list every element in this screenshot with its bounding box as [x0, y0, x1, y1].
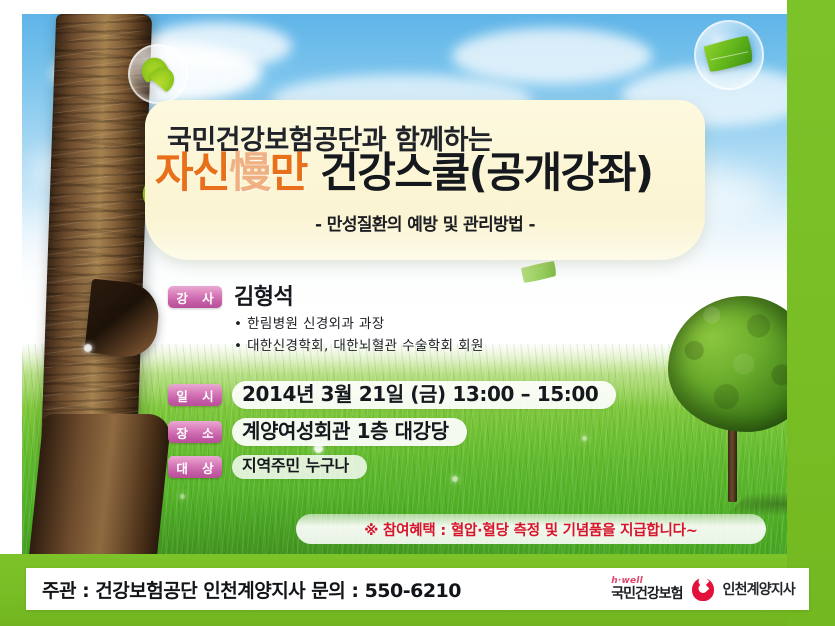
bubble-left [128, 44, 188, 104]
title-line-2: 자신慢만 건강스쿨(공개강좌) [155, 152, 653, 194]
branch-name: 인천계양지사 [723, 579, 795, 599]
datetime-value: 2014년 3월 21일 (금) 13:00 – 15:00 [242, 382, 598, 406]
leaf-icon [703, 34, 755, 74]
title-word-man: 만 [270, 148, 307, 197]
venue-pill: 계양여성회관 1층 대강당 [232, 418, 467, 446]
trunk-base [28, 414, 172, 559]
badge-audience: 대 상 [168, 456, 222, 478]
frame-top-white [0, 0, 835, 14]
title-word-health-school: 건강스쿨(공개강좌) [320, 148, 653, 197]
info-row-speaker: 강 사 김형석 한림병원 신경외과 과장 대한신경학회, 대한뇌혈관 수술학회 … [168, 286, 638, 357]
nhis-logo: h·well 국민건강보험 [611, 577, 682, 601]
nhis-wordmark: 국민건강보험 [611, 587, 682, 601]
badge-venue: 장 소 [168, 421, 222, 443]
info-row-audience: 대 상 지역주민 누구나 [168, 455, 638, 479]
speaker-name: 김형석 [234, 286, 484, 310]
list-item: 한림병원 신경외과 과장 [234, 314, 484, 336]
spacer [168, 446, 638, 455]
benefit-notice: ※ 참여혜택 : 혈압·혈당 측정 및 기념품을 지급합니다~ [296, 514, 766, 544]
hwell-wordmark: h·well [611, 577, 682, 586]
venue-value: 계양여성회관 1층 대강당 [242, 419, 449, 443]
spacer [168, 369, 638, 381]
list-item: 대한신경학회, 대한뇌혈관 수술학회 회원 [234, 336, 484, 358]
badge-speaker: 강 사 [168, 286, 222, 308]
spacer [168, 357, 638, 369]
info-row-datetime: 일 시 2014년 3월 21일 (금) 13:00 – 15:00 [168, 381, 638, 409]
bokeh-dot [180, 494, 185, 499]
frame-right-green [787, 0, 835, 626]
title-subtitle: - 만성질환의 예방 및 관리방법 - [145, 210, 705, 235]
info-block: 강 사 김형석 한림병원 신경외과 과장 대한신경학회, 대한뇌혈관 수술학회 … [168, 286, 638, 479]
info-row-venue: 장 소 계양여성회관 1층 대강당 [168, 418, 638, 446]
heart-icon [692, 578, 714, 601]
poster-root: 국민건강보험공단과 함께하는 자신慢만 건강스쿨(공개강좌) - 만성질환의 예… [0, 0, 835, 626]
speaker-credentials: 한림병원 신경외과 과장 대한신경학회, 대한뇌혈관 수술학회 회원 [234, 314, 484, 358]
footer-bar: 주관 : 건강보험공단 인천계양지사 문의 : 550-6210 h·well … [26, 568, 809, 610]
title-word-jasin: 자신 [155, 148, 229, 197]
cloud [452, 28, 652, 84]
spacer [168, 409, 638, 418]
badge-datetime: 일 시 [168, 384, 222, 406]
title-panel: 국민건강보험공단과 함께하는 자신慢만 건강스쿨(공개강좌) - 만성질환의 예… [145, 100, 705, 260]
audience-value: 지역주민 누구나 [242, 456, 349, 475]
datetime-pill: 2014년 3월 21일 (금) 13:00 – 15:00 [232, 381, 616, 409]
audience-pill: 지역주민 누구나 [232, 455, 367, 479]
bokeh-dot [84, 344, 92, 352]
frame-left-white [0, 0, 22, 626]
footer-logos: h·well 국민건강보험 인천계양지사 [611, 568, 795, 610]
title-word-man-hanja: 慢 [229, 148, 270, 197]
footer-text: 주관 : 건강보험공단 인천계양지사 문의 : 550-6210 [42, 576, 461, 603]
bubble-right [694, 20, 764, 90]
leaf-vein [711, 51, 748, 60]
